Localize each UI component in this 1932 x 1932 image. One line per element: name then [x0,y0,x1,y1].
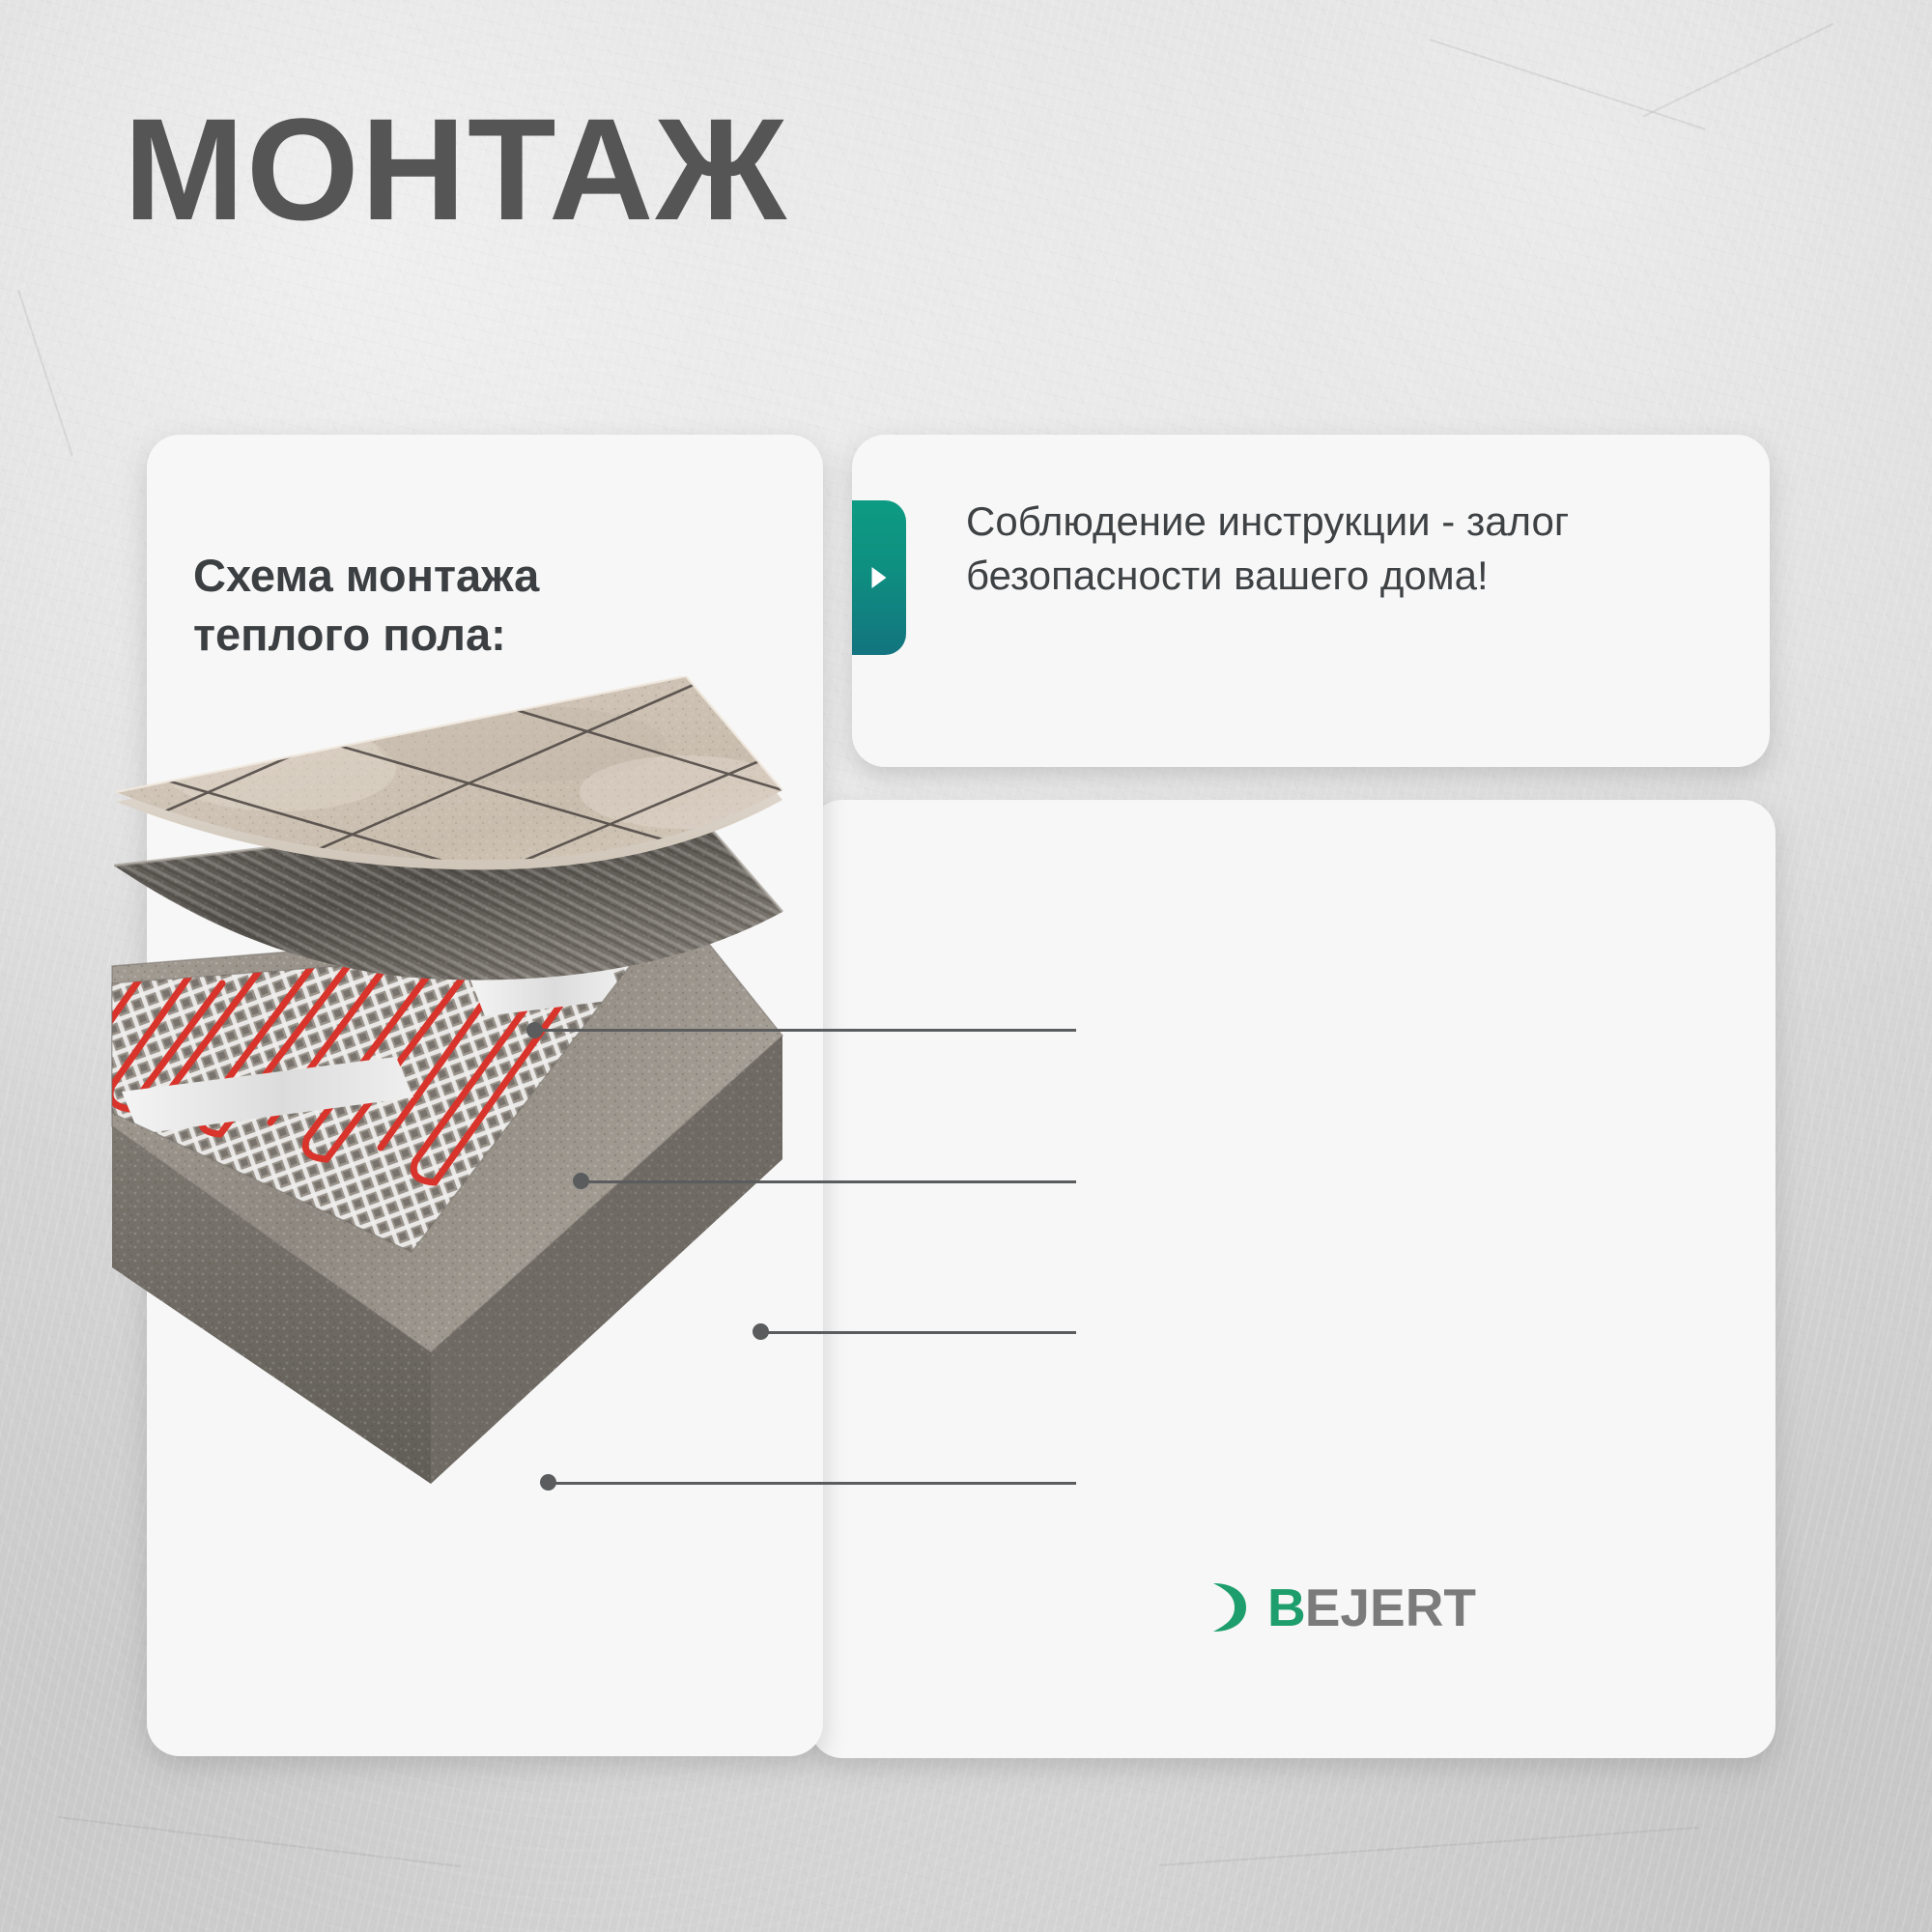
background-crack [1429,39,1705,130]
notice-text: Соблюдение инструкции - залог безопаснос… [966,495,1719,604]
scheme-card-heading: Схема монтажа теплого пола: [193,546,657,664]
page-title: МОНТАЖ [124,93,788,246]
chevron-right-icon [872,567,887,588]
leader-line-floor-covering [533,1029,1076,1032]
brand-wordmark: B EJERT [1267,1577,1476,1638]
leader-dot-floor-covering [526,1022,543,1038]
background-crack [1159,1827,1699,1866]
background-crack [1642,23,1834,118]
brand-letters-rest: EJERT [1305,1577,1476,1638]
leader-line-floor-base [547,1482,1076,1485]
brand-letter-b: B [1267,1577,1305,1638]
leader-line-heating-mat [759,1331,1076,1334]
background-crack [17,290,73,456]
notice-accent-bar [852,500,906,655]
leader-line-tile-adhesive [580,1180,1076,1183]
leader-dot-heating-mat [753,1323,769,1340]
bejert-arc-icon [1206,1580,1267,1634]
underfloor-heating-exploded-view [106,676,918,1584]
notice-card: Соблюдение инструкции - залог безопаснос… [852,435,1770,767]
brand-logo: B EJERT [1206,1577,1476,1638]
leader-dot-tile-adhesive [573,1173,589,1189]
background-crack [58,1816,461,1867]
leader-dot-floor-base [540,1474,556,1491]
